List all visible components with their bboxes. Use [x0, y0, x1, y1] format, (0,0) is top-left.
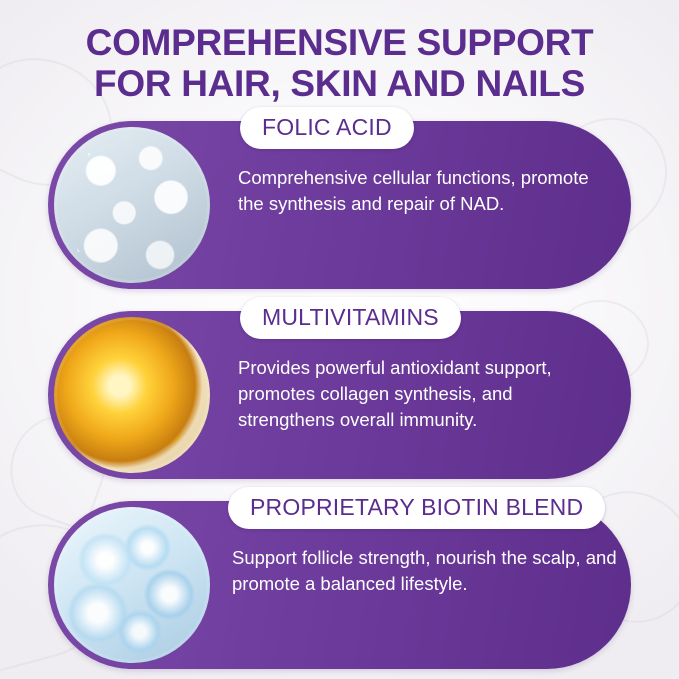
benefit-card-biotin-blend: PROPRIETARY BIOTIN BLEND Support follicl…	[48, 501, 631, 669]
oil-droplet-photo	[54, 317, 210, 473]
benefit-card-body: FOLIC ACID Comprehensive cellular functi…	[220, 121, 613, 289]
benefit-description: Support follicle strength, nourish the s…	[232, 545, 617, 598]
benefit-title-badge: MULTIVITAMINS	[240, 297, 461, 339]
benefit-card-list: FOLIC ACID Comprehensive cellular functi…	[0, 121, 679, 669]
benefit-card-multivitamins: MULTIVITAMINS Provides powerful antioxid…	[48, 311, 631, 479]
benefit-card-body: MULTIVITAMINS Provides powerful antioxid…	[220, 311, 613, 479]
water-bubbles-photo	[54, 507, 210, 663]
headline-line-1: COMPREHENSIVE SUPPORT	[18, 22, 661, 63]
benefit-title-badge: PROPRIETARY BIOTIN BLEND	[228, 487, 605, 529]
benefit-card-folic-acid: FOLIC ACID Comprehensive cellular functi…	[48, 121, 631, 289]
benefit-description: Provides powerful antioxidant support, p…	[238, 355, 607, 434]
headline-line-2: FOR HAIR, SKIN AND NAILS	[18, 63, 661, 104]
benefit-card-body: PROPRIETARY BIOTIN BLEND Support follicl…	[214, 501, 623, 669]
benefit-description: Comprehensive cellular functions, promot…	[238, 165, 607, 218]
benefit-title-badge: FOLIC ACID	[240, 107, 414, 149]
product-infographic: COMPREHENSIVE SUPPORT FOR HAIR, SKIN AND…	[0, 0, 679, 679]
page-title: COMPREHENSIVE SUPPORT FOR HAIR, SKIN AND…	[0, 0, 679, 105]
molecules-photo	[54, 127, 210, 283]
